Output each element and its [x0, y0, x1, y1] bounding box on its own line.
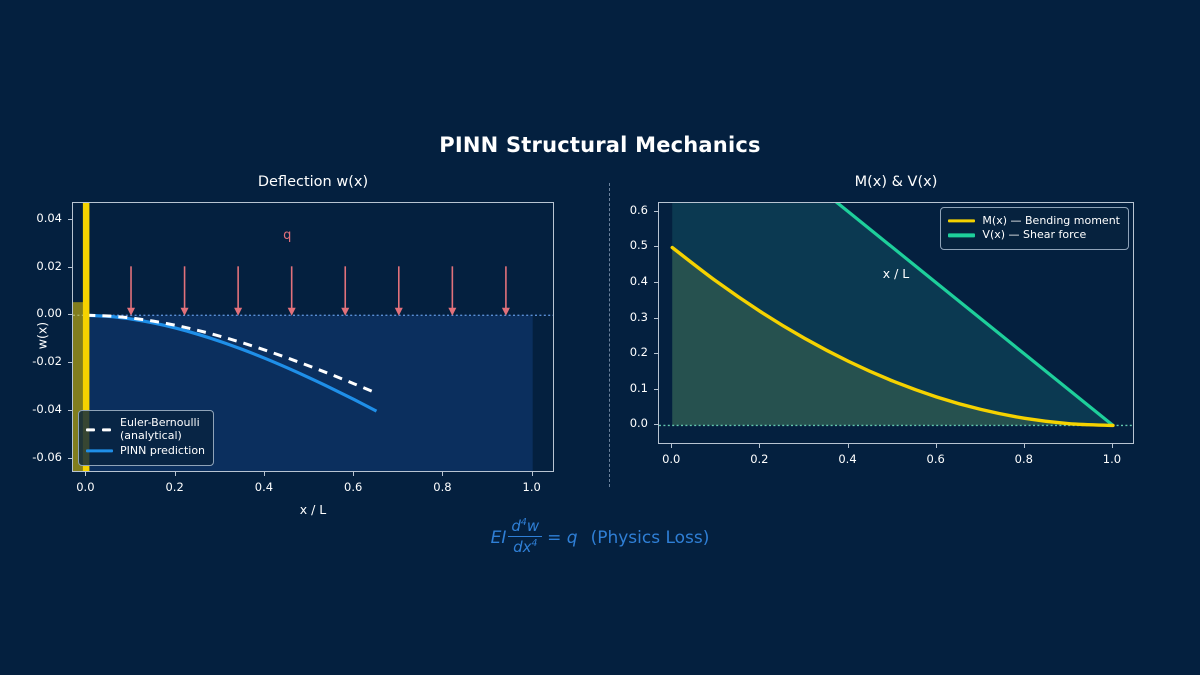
- equation-equals: = q: [547, 528, 577, 548]
- legend-item: Euler-Bernoulli (analytical): [86, 417, 205, 443]
- y-tick-mark: [654, 246, 658, 247]
- x-tick-mark: [759, 444, 760, 448]
- deflection-plot-title: Deflection w(x): [72, 174, 554, 190]
- x-tick-mark: [1112, 444, 1113, 448]
- x-tick-label: 0.2: [150, 480, 200, 494]
- y-tick-label: 0.0: [596, 416, 648, 430]
- y-tick-label: -0.04: [10, 402, 62, 416]
- y-tick-mark: [654, 353, 658, 354]
- deflection-xaxis-label: x / L: [72, 502, 554, 517]
- equation-fraction: d4wdx4: [508, 517, 542, 556]
- y-tick-mark: [68, 410, 72, 411]
- x-tick-mark: [353, 472, 354, 476]
- y-tick-mark: [654, 389, 658, 390]
- x-tick-label: 0.2: [734, 452, 784, 466]
- equation-lead: EI: [491, 528, 507, 548]
- x-tick-label: 0.4: [823, 452, 873, 466]
- load-arrow-head: [395, 308, 403, 316]
- x-tick-label: 0.6: [328, 480, 378, 494]
- y-tick-label: 0.4: [596, 274, 648, 288]
- legend-label: Euler-Bernoulli (analytical): [120, 417, 200, 443]
- x-tick-mark: [936, 444, 937, 448]
- deflection-plot: Deflection w(x) q 0.00.20.40.60.81.00.04…: [72, 202, 554, 472]
- x-tick-mark: [442, 472, 443, 476]
- legend-label: PINN prediction: [120, 445, 205, 458]
- legend-swatch-solid: [948, 215, 975, 227]
- x-tick-mark: [532, 472, 533, 476]
- x-tick-mark: [848, 444, 849, 448]
- y-tick-label: 0.5: [596, 238, 648, 252]
- load-arrow-head: [127, 308, 135, 316]
- load-label-q: q: [283, 228, 291, 243]
- load-arrow-head: [181, 308, 189, 316]
- equation-tail: (Physics Loss): [591, 528, 710, 548]
- physics-loss-equation: EId4wdx4= q(Physics Loss): [0, 518, 1200, 557]
- figure-title: PINN Structural Mechanics: [0, 133, 1200, 157]
- y-tick-mark: [654, 424, 658, 425]
- x-tick-label: 0.0: [60, 480, 110, 494]
- load-arrow-head: [234, 308, 242, 316]
- equation-numerator: d4w: [508, 517, 542, 537]
- y-tick-label: 0.3: [596, 310, 648, 324]
- y-tick-label: 0.02: [10, 259, 62, 273]
- y-tick-label: 0.6: [596, 203, 648, 217]
- y-tick-mark: [68, 267, 72, 268]
- deflection-legend[interactable]: Euler-Bernoulli (analytical)PINN predict…: [78, 410, 214, 466]
- x-tick-label: 0.0: [646, 452, 696, 466]
- moment-shear-plot: M(x) & V(x) 0.00.20.40.60.81.00.00.10.20…: [658, 202, 1134, 444]
- x-tick-mark: [85, 472, 86, 476]
- x-tick-mark: [175, 472, 176, 476]
- y-tick-label: 0.1: [596, 381, 648, 395]
- distributed-load-arrows: [127, 266, 510, 315]
- x-tick-mark: [671, 444, 672, 448]
- x-tick-label: 1.0: [1087, 452, 1137, 466]
- legend-item: PINN prediction: [86, 445, 205, 458]
- deflection-yaxis-label: w(x): [35, 296, 50, 376]
- y-tick-label: 0.2: [596, 345, 648, 359]
- x-tick-label: 1.0: [507, 480, 557, 494]
- x-tick-label: 0.6: [911, 452, 961, 466]
- load-arrow-head: [448, 308, 456, 316]
- load-arrow-head: [288, 308, 296, 316]
- legend-label: M(x) — Bending moment: [982, 215, 1120, 228]
- y-tick-mark: [68, 458, 72, 459]
- legend-swatch-solid: [86, 445, 113, 457]
- y-tick-mark: [654, 282, 658, 283]
- load-arrow-head: [341, 308, 349, 316]
- y-tick-label: 0.04: [10, 211, 62, 225]
- equation-denominator: dx4: [508, 537, 542, 556]
- legend-swatch-dashed: [86, 424, 113, 436]
- y-tick-mark: [654, 211, 658, 212]
- moment-shear-legend[interactable]: M(x) — Bending momentV(x) — Shear force: [940, 207, 1129, 250]
- legend-label: V(x) — Shear force: [982, 229, 1086, 242]
- moment-shear-xaxis-label: x / L: [658, 266, 1134, 281]
- y-tick-mark: [68, 362, 72, 363]
- x-tick-label: 0.8: [999, 452, 1049, 466]
- legend-swatch-solid: [948, 229, 975, 241]
- x-tick-mark: [264, 472, 265, 476]
- y-tick-label: -0.06: [10, 450, 62, 464]
- y-tick-mark: [68, 219, 72, 220]
- x-tick-mark: [1024, 444, 1025, 448]
- legend-item: V(x) — Shear force: [948, 229, 1120, 242]
- moment-shear-plot-title: M(x) & V(x): [658, 174, 1134, 190]
- legend-item: M(x) — Bending moment: [948, 215, 1120, 228]
- x-tick-label: 0.4: [239, 480, 289, 494]
- x-tick-label: 0.8: [417, 480, 467, 494]
- y-tick-mark: [68, 314, 72, 315]
- y-tick-mark: [654, 318, 658, 319]
- load-arrow-head: [502, 308, 510, 316]
- figure-canvas: PINN Structural Mechanics Deflection w(x…: [0, 0, 1200, 675]
- panel-divider: [609, 183, 610, 487]
